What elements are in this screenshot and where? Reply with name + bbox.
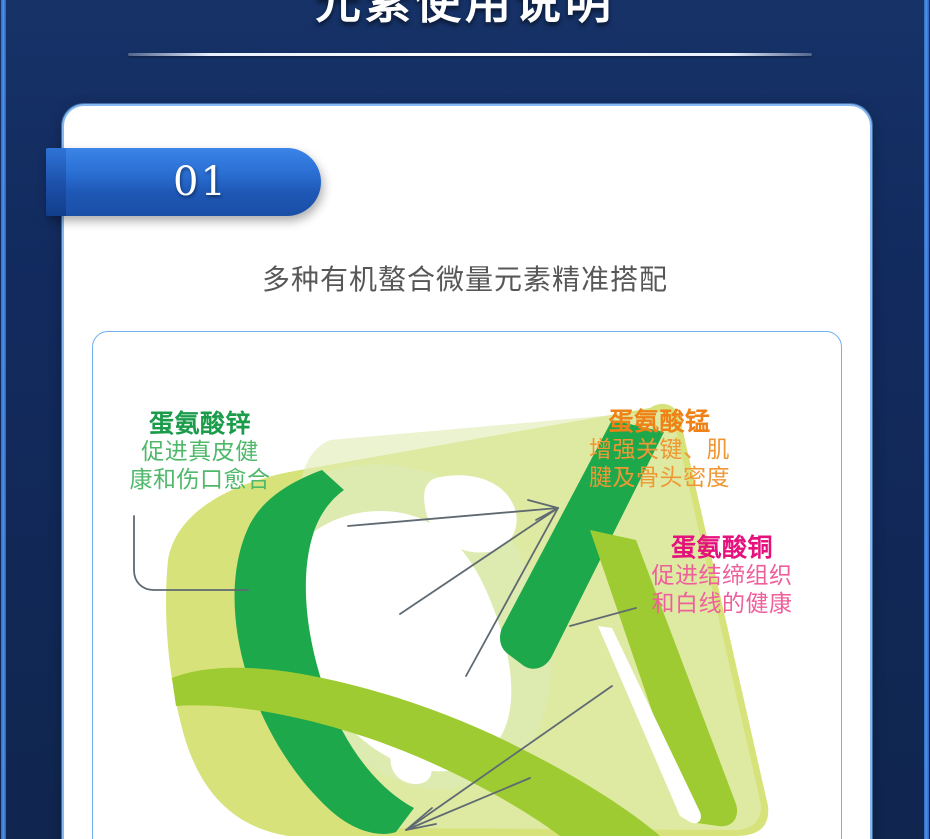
title-divider xyxy=(128,53,812,56)
label-zinc-desc-line2: 康和伤口愈合 xyxy=(120,468,280,493)
label-copper-desc-line2: 和白线的健康 xyxy=(622,592,822,617)
label-copper: 蛋氨酸铜 促进结缔组织 和白线的健康 xyxy=(622,534,822,617)
page-title: 元素使用说明 xyxy=(0,0,930,32)
label-copper-desc-line1: 促进结缔组织 xyxy=(622,564,822,589)
label-manganese-desc-line1: 增强关键、肌 xyxy=(572,438,747,463)
label-manganese: 蛋氨酸锰 增强关键、肌 腱及骨头密度 xyxy=(572,408,747,491)
label-copper-title: 蛋氨酸铜 xyxy=(622,534,822,561)
right-edge-strip xyxy=(924,0,929,839)
page-background: 元素使用说明 01 多种有机螯合微量元素精准搭配 xyxy=(0,0,930,839)
label-zinc-desc-line1: 促进真皮健 xyxy=(120,440,280,465)
label-zinc-title: 蛋氨酸锌 xyxy=(120,410,280,437)
label-zinc: 蛋氨酸锌 促进真皮健 康和伤口愈合 xyxy=(120,410,280,493)
step-badge-01[interactable]: 01 xyxy=(46,148,321,216)
badge-pill: 01 xyxy=(66,148,321,216)
left-edge-strip xyxy=(1,0,6,839)
label-manganese-desc-line2: 腱及骨头密度 xyxy=(572,466,747,491)
badge-number: 01 xyxy=(159,159,228,205)
section-heading: 多种有机螯合微量元素精准搭配 xyxy=(62,258,868,298)
label-manganese-title: 蛋氨酸锰 xyxy=(572,408,747,435)
